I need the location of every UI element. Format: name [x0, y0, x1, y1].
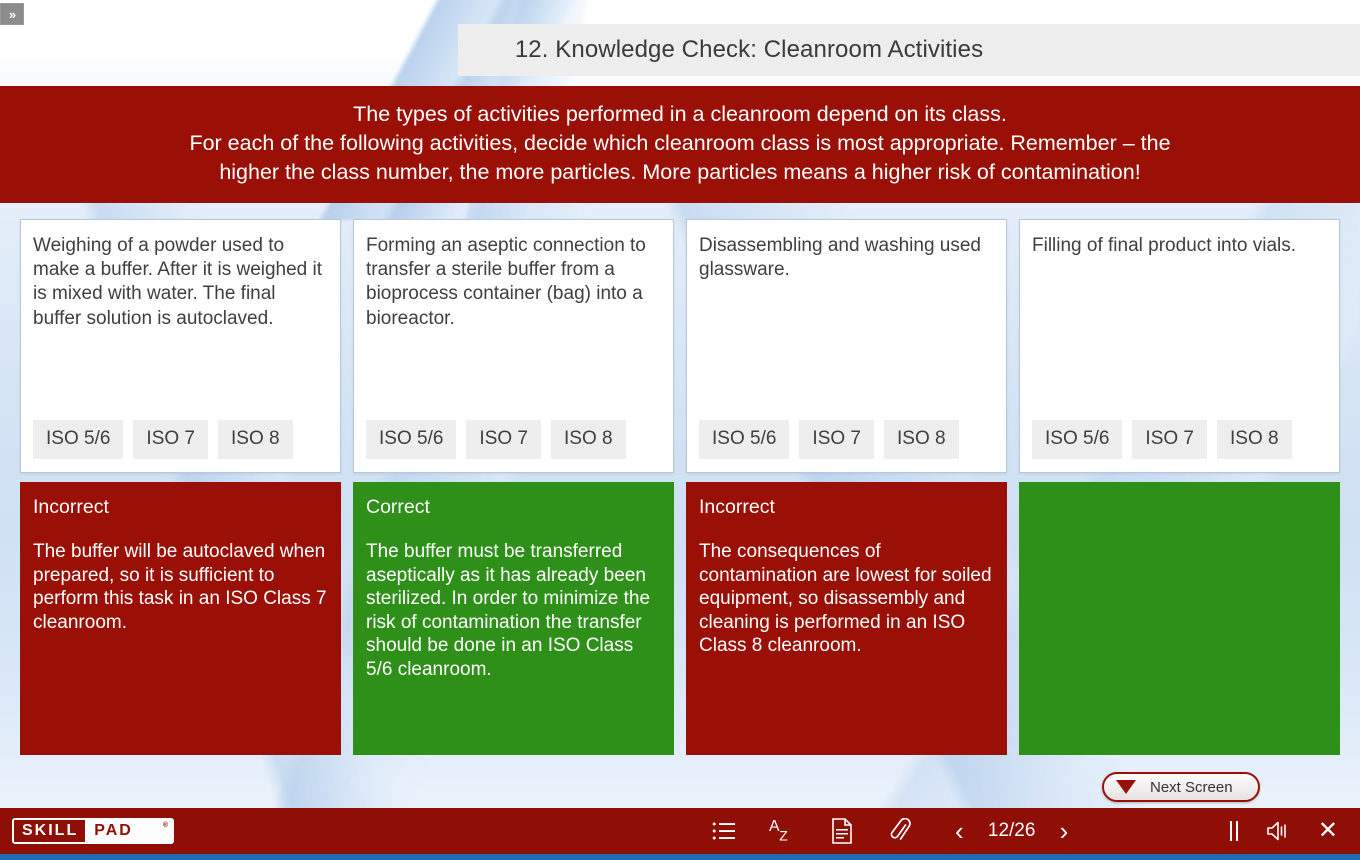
activity-text: Filling of final product into vials. [1032, 234, 1327, 420]
title-bar: 12. Knowledge Check: Cleanroom Activitie… [458, 24, 1360, 76]
triangle-down-icon [1116, 780, 1136, 794]
attachments-paperclip-icon[interactable] [887, 817, 915, 845]
feedback-panel [1019, 482, 1340, 755]
expand-sidebar-button[interactable]: » [0, 3, 24, 25]
activity-text: Weighing of a powder used to make a buff… [33, 234, 328, 420]
logo-text-skill: SKILL [14, 820, 85, 842]
page-title: 12. Knowledge Check: Cleanroom Activitie… [515, 36, 1303, 64]
pause-icon[interactable] [1230, 821, 1238, 841]
feedback-status: Incorrect [33, 496, 329, 519]
pause-bar-right [1236, 821, 1238, 841]
close-icon[interactable]: ✕ [1318, 819, 1338, 843]
iso-option-button[interactable]: ISO 8 [1217, 420, 1292, 459]
skillpad-logo[interactable]: SKILL PAD ® [12, 818, 174, 844]
feedback-body: The buffer will be autoclaved when prepa… [33, 540, 329, 634]
iso-option-button[interactable]: ISO 5/6 [33, 420, 123, 459]
activity-card: Disassembling and washing used glassware… [686, 219, 1007, 473]
volume-icon[interactable] [1264, 817, 1292, 845]
feedback-body: The buffer must be transferred aseptical… [366, 540, 662, 681]
toolbar-icon-group: A Z [710, 808, 915, 854]
page-indicator: 12/26 [984, 820, 1040, 842]
page-navigation-group: ‹ 12/26 › [955, 808, 1068, 854]
iso-option-button[interactable]: ISO 8 [551, 420, 626, 459]
feedback-status: Incorrect [699, 496, 995, 519]
pause-bar-left [1230, 821, 1232, 841]
activity-card: Weighing of a powder used to make a buff… [20, 219, 341, 473]
iso-option-button[interactable]: ISO 8 [218, 420, 293, 459]
next-screen-button[interactable]: Next Screen [1102, 772, 1260, 802]
instruction-line-1: The types of activities performed in a c… [353, 100, 1007, 129]
feedback-status: Correct [366, 496, 662, 519]
instruction-banner: The types of activities performed in a c… [0, 86, 1360, 203]
feedback-row: Incorrect The buffer will be autoclaved … [0, 482, 1360, 755]
notes-document-icon[interactable] [828, 817, 856, 845]
logo-text-pad: PAD [85, 820, 172, 842]
svg-text:Z: Z [779, 827, 788, 843]
iso-option-group: ISO 5/6 ISO 7 ISO 8 [366, 420, 661, 472]
feedback-panel: Incorrect The buffer will be autoclaved … [20, 482, 341, 755]
iso-option-button[interactable]: ISO 7 [799, 420, 874, 459]
playback-controls-group: ✕ [1230, 808, 1338, 854]
logo-registered-mark: ® [163, 822, 168, 829]
activity-card: Forming an aseptic connection to transfe… [353, 219, 674, 473]
activity-cards-row: Weighing of a powder used to make a buff… [0, 219, 1360, 473]
previous-page-button[interactable]: ‹ [955, 818, 964, 844]
next-page-button[interactable]: › [1060, 818, 1069, 844]
instruction-line-2: For each of the following activities, de… [189, 129, 1170, 158]
iso-option-group: ISO 5/6 ISO 7 ISO 8 [699, 420, 994, 472]
feedback-panel: Incorrect The consequences of contaminat… [686, 482, 1007, 755]
feedback-body: The consequences of contamination are lo… [699, 540, 995, 658]
bottom-toolbar: SKILL PAD ® A Z [0, 808, 1360, 854]
next-screen-label: Next Screen [1150, 779, 1233, 796]
activity-text: Disassembling and washing used glassware… [699, 234, 994, 420]
iso-option-button[interactable]: ISO 7 [466, 420, 541, 459]
glossary-az-icon[interactable]: A Z [769, 817, 797, 845]
iso-option-button[interactable]: ISO 5/6 [699, 420, 789, 459]
iso-option-button[interactable]: ISO 8 [884, 420, 959, 459]
iso-option-group: ISO 5/6 ISO 7 ISO 8 [33, 420, 328, 472]
iso-option-button[interactable]: ISO 5/6 [366, 420, 456, 459]
instruction-line-3: higher the class number, the more partic… [219, 158, 1140, 187]
iso-option-button[interactable]: ISO 7 [133, 420, 208, 459]
activity-card: Filling of final product into vials. ISO… [1019, 219, 1340, 473]
iso-option-button[interactable]: ISO 5/6 [1032, 420, 1122, 459]
activity-text: Forming an aseptic connection to transfe… [366, 234, 661, 420]
iso-option-button[interactable]: ISO 7 [1132, 420, 1207, 459]
menu-list-icon[interactable] [710, 817, 738, 845]
iso-option-group: ISO 5/6 ISO 7 ISO 8 [1032, 420, 1327, 472]
feedback-panel: Correct The buffer must be transferred a… [353, 482, 674, 755]
bottom-accent-strip [0, 854, 1360, 860]
